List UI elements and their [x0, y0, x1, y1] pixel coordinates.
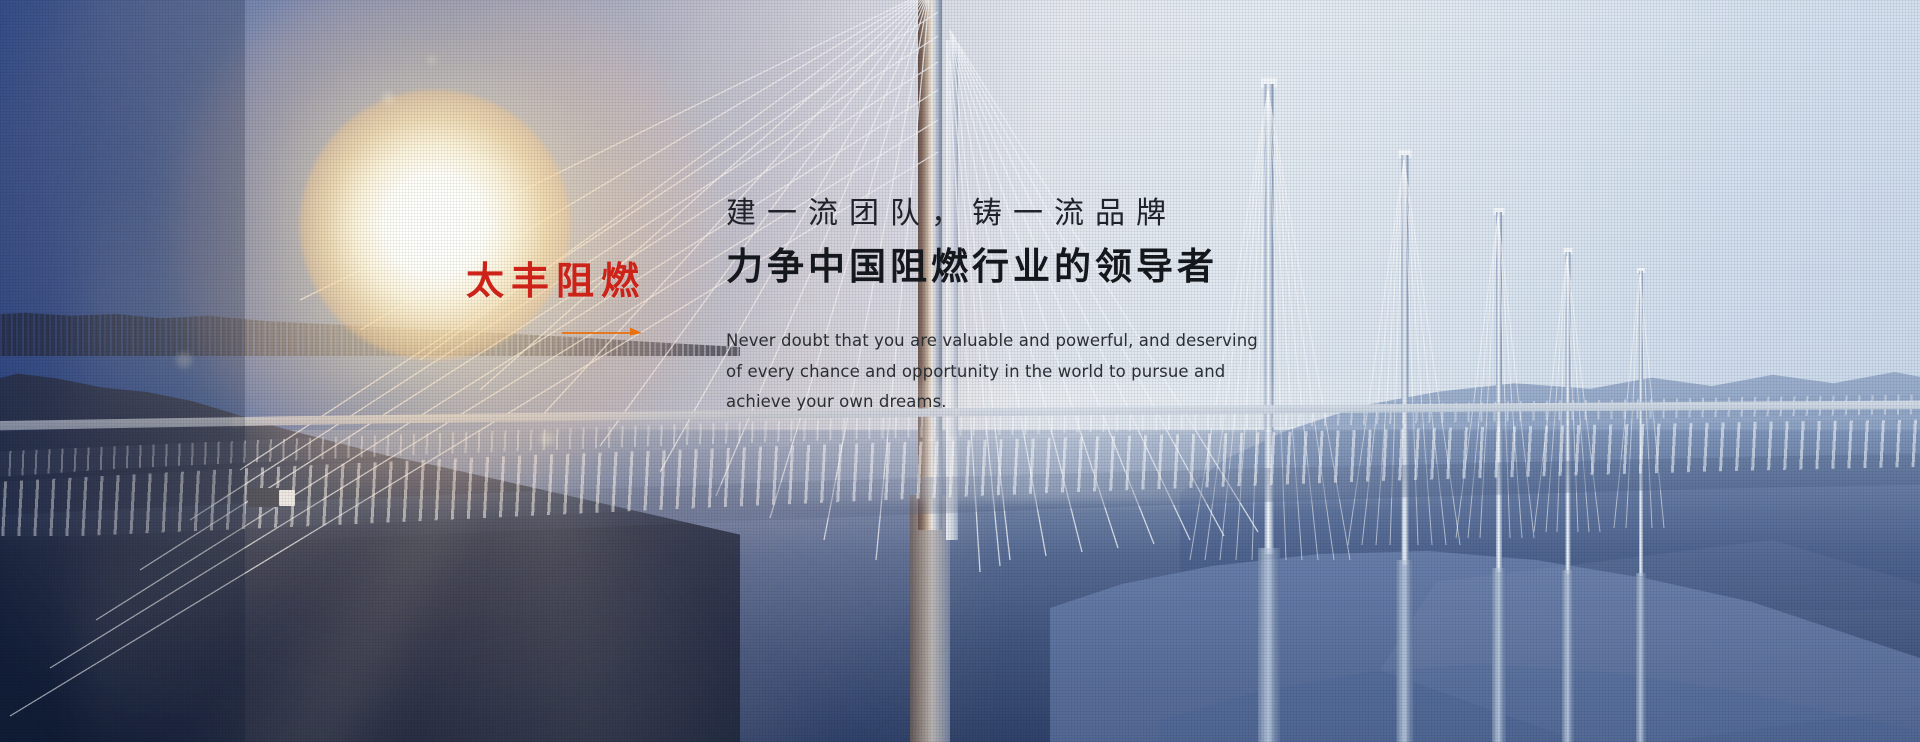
description-block: Never doubt that you are valuable and po… [726, 326, 1258, 418]
description-line-2: of every chance and opportunity in the w… [726, 357, 1258, 388]
description-line-1: Never doubt that you are valuable and po… [726, 326, 1258, 357]
banner-content: 太丰阻燃 建一流团队，铸一流品牌 力争中国阻燃行业的领导者 Never doub… [0, 0, 1920, 742]
brand-logo[interactable]: 太丰阻燃 [466, 262, 646, 300]
brand-logo-text: 太丰阻燃 [466, 262, 646, 300]
headline-subtitle: 建一流团队，铸一流品牌 [726, 196, 1218, 231]
description-line-3: achieve your own dreams. [726, 387, 1258, 418]
headline-title: 力争中国阻燃行业的领导者 [726, 245, 1218, 289]
headline-block: 建一流团队，铸一流品牌 力争中国阻燃行业的领导者 [726, 196, 1218, 289]
hero-banner: 太丰阻燃 建一流团队，铸一流品牌 力争中国阻燃行业的领导者 Never doub… [0, 0, 1920, 742]
arrow-right-icon [562, 326, 646, 338]
